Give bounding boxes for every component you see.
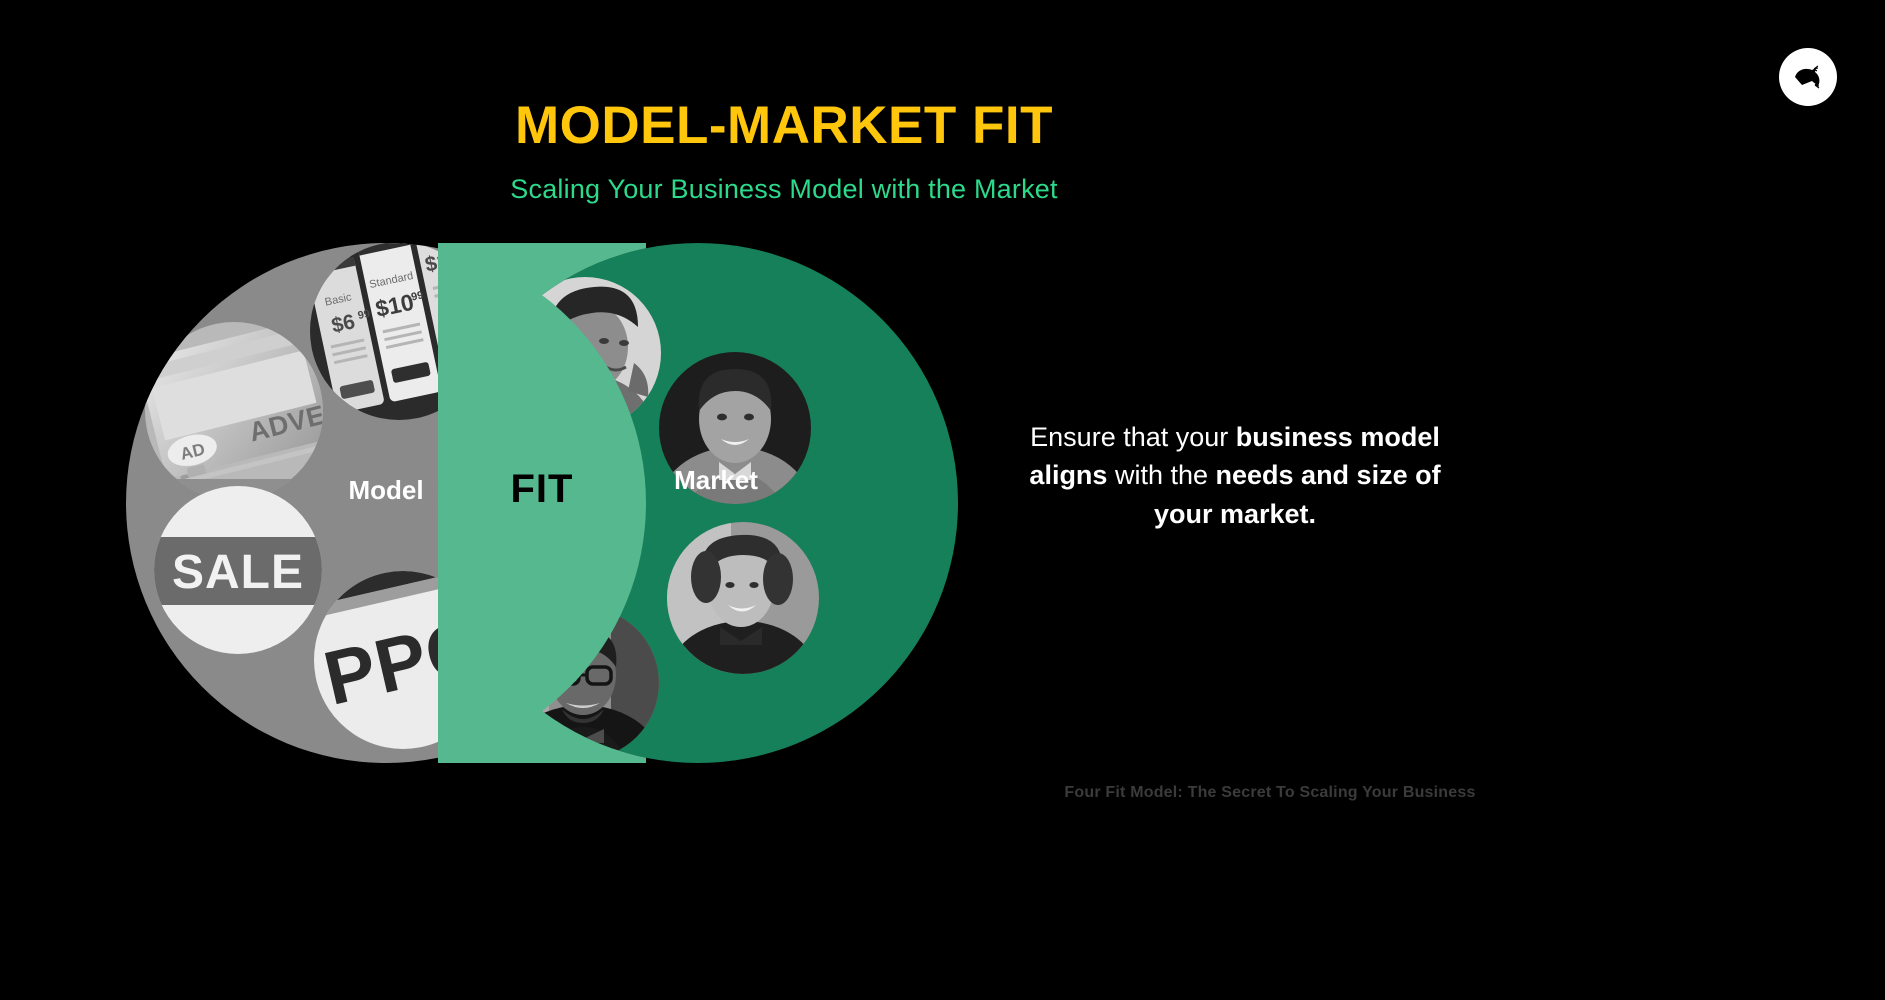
- svg-text:99: 99: [357, 308, 371, 322]
- venn-intersection-fit: [438, 243, 646, 763]
- footer-caption: Four Fit Model: The Secret To Scaling Yo…: [1055, 784, 1485, 802]
- copy-bold-2: aligns: [1029, 460, 1107, 490]
- svg-text:$6: $6: [329, 310, 357, 337]
- description-text: Ensure that your business model aligns w…: [1020, 418, 1450, 533]
- copy-bold-3: needs and size of: [1216, 460, 1441, 490]
- header-block: MODEL-MARKET FIT Scaling Your Business M…: [0, 98, 1568, 205]
- copy-bold-1: business model: [1236, 422, 1440, 452]
- copy-bold-4: your market.: [1154, 499, 1316, 529]
- svg-text:99: 99: [410, 289, 424, 303]
- sale-photo: SALE: [154, 486, 322, 654]
- svg-text:SALE: SALE: [172, 546, 304, 599]
- copy-part-1: Ensure that your: [1030, 422, 1236, 452]
- slide-canvas: MODEL-MARKET FIT Scaling Your Business M…: [0, 0, 1885, 1000]
- venn-diagram: ADVERTISING AD Basic: [126, 243, 958, 763]
- page-title: MODEL-MARKET FIT: [0, 98, 1568, 154]
- page-subtitle: Scaling Your Business Model with the Mar…: [0, 174, 1568, 205]
- customer-portrait-3: [667, 522, 819, 737]
- bird-logo-icon: [1788, 57, 1828, 97]
- copy-part-2: with the: [1107, 460, 1215, 490]
- brand-logo: [1779, 48, 1837, 106]
